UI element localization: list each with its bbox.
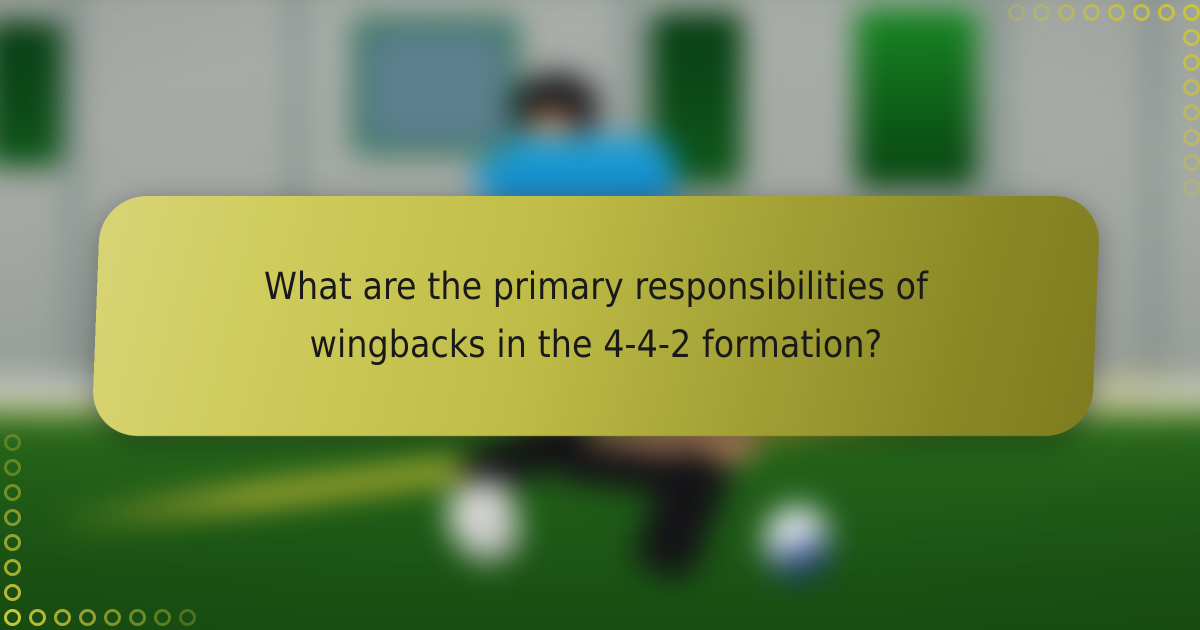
screenshot-canvas: What are the primary responsibilities of… xyxy=(0,0,1200,630)
question-card-body: What are the primary responsibilities of… xyxy=(96,196,1096,436)
question-card: What are the primary responsibilities of… xyxy=(96,196,1096,436)
question-text: What are the primary responsibilities of… xyxy=(246,258,946,374)
